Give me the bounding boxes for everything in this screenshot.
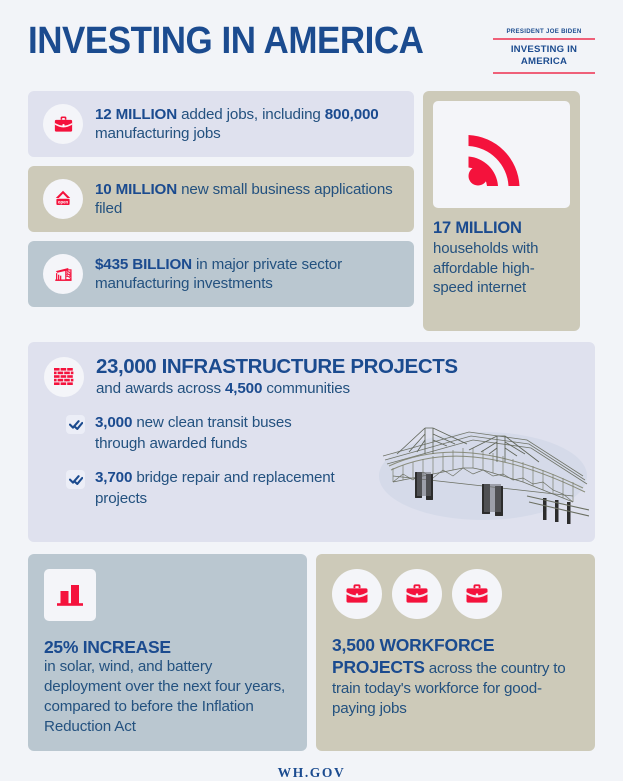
footer-wh-gov[interactable]: WH.GOV [0, 765, 623, 781]
infra-sub-before: and awards across [96, 380, 225, 397]
infrastructure-bullet-list: 3,000 new clean transit buses through aw… [66, 413, 336, 510]
stat-card-jobs: 12 MILLION added jobs, including 800,000… [28, 91, 414, 157]
stat-text-jobs: 12 MILLION added jobs, including 800,000… [95, 105, 399, 144]
svg-text:open: open [58, 200, 69, 205]
infrastructure-heading-text: 23,000 INFRASTRUCTURE PROJECTS and award… [96, 356, 458, 397]
infrastructure-subtitle: and awards across 4,500 communities [96, 380, 458, 397]
stat-highlight-12-million: 12 MILLION [95, 106, 177, 123]
clean-energy-panel: 25% INCREASE in solar, wind, and battery… [28, 554, 307, 751]
wifi-signal-icon [433, 101, 570, 208]
stat-highlight-800000: 800,000 [325, 106, 379, 123]
bottom-section: 25% INCREASE in solar, wind, and battery… [0, 554, 623, 751]
stat-highlight-435-billion: $435 BILLION [95, 256, 192, 273]
briefcase-icon [452, 569, 502, 619]
bullet-number-3000: 3,000 [95, 414, 132, 431]
workforce-text: 3,500 WORKFORCE PROJECTS across the coun… [332, 634, 579, 719]
internet-body-text: households with affordable high-speed in… [433, 239, 570, 298]
clean-energy-body: in solar, wind, and battery deployment o… [44, 657, 291, 737]
open-sign-icon: open [43, 179, 83, 219]
stat-card-manufacturing-investment: $435 BILLION in major private sector man… [28, 241, 414, 307]
infrastructure-header: 23,000 INFRASTRUCTURE PROJECTS and award… [44, 356, 579, 397]
briefcase-icon [43, 104, 83, 144]
stat-card-column: 12 MILLION added jobs, including 800,000… [28, 91, 414, 307]
internet-headline: 17 MILLION [433, 219, 570, 238]
brand-top-line: PRESIDENT JOE BIDEN [493, 28, 595, 35]
stat-card-small-business: open 10 MILLION new small business appli… [28, 166, 414, 232]
internet-column: 17 MILLION households with affordable hi… [423, 91, 580, 331]
infrastructure-title: 23,000 INFRASTRUCTURE PROJECTS [96, 356, 458, 378]
brand-main-text: INVESTING IN AMERICA [493, 40, 595, 71]
bullet-text-bridges: 3,700 bridge repair and replacement proj… [95, 468, 336, 509]
brand-main-line1: INVESTING IN [493, 44, 595, 56]
stat-text-mid: added jobs, including [177, 106, 325, 123]
brand-rule-bottom [493, 72, 595, 74]
top-section: 12 MILLION added jobs, including 800,000… [0, 91, 623, 331]
brick-wall-icon [44, 357, 84, 397]
header: INVESTING IN AMERICA PRESIDENT JOE BIDEN… [0, 0, 623, 74]
brand-logo: PRESIDENT JOE BIDEN INVESTING IN AMERICA [493, 22, 595, 74]
double-check-icon [66, 470, 85, 489]
bullet-text-buses: 3,000 new clean transit buses through aw… [95, 413, 336, 454]
infrastructure-panel: 23,000 INFRASTRUCTURE PROJECTS and award… [28, 342, 595, 541]
briefcase-icon-group [332, 569, 579, 619]
stat-highlight-10-million: 10 MILLION [95, 181, 177, 198]
briefcase-icon [392, 569, 442, 619]
clean-energy-headline: 25% INCREASE [44, 637, 291, 657]
factory-icon [43, 254, 83, 294]
stat-text-small-business: 10 MILLION new small business applicatio… [95, 180, 399, 219]
bridge-illustration [377, 410, 589, 528]
stat-text-manufacturing-investment: $435 BILLION in major private sector man… [95, 255, 399, 294]
stat-text-end: manufacturing jobs [95, 125, 221, 142]
infra-sub-number: 4,500 [225, 380, 262, 397]
page-title: INVESTING IN AMERICA [28, 22, 423, 60]
brand-main-line2: AMERICA [493, 56, 595, 68]
infographic-page: INVESTING IN AMERICA PRESIDENT JOE BIDEN… [0, 0, 623, 778]
list-item: 3,700 bridge repair and replacement proj… [66, 468, 336, 509]
double-check-icon [66, 415, 85, 434]
bullet-number-3700: 3,700 [95, 469, 132, 486]
bar-chart-icon [44, 569, 96, 621]
infra-sub-after: communities [262, 380, 350, 397]
briefcase-icon [332, 569, 382, 619]
internet-panel: 17 MILLION households with affordable hi… [423, 91, 580, 331]
workforce-panel: 3,500 WORKFORCE PROJECTS across the coun… [316, 554, 595, 751]
list-item: 3,000 new clean transit buses through aw… [66, 413, 336, 454]
